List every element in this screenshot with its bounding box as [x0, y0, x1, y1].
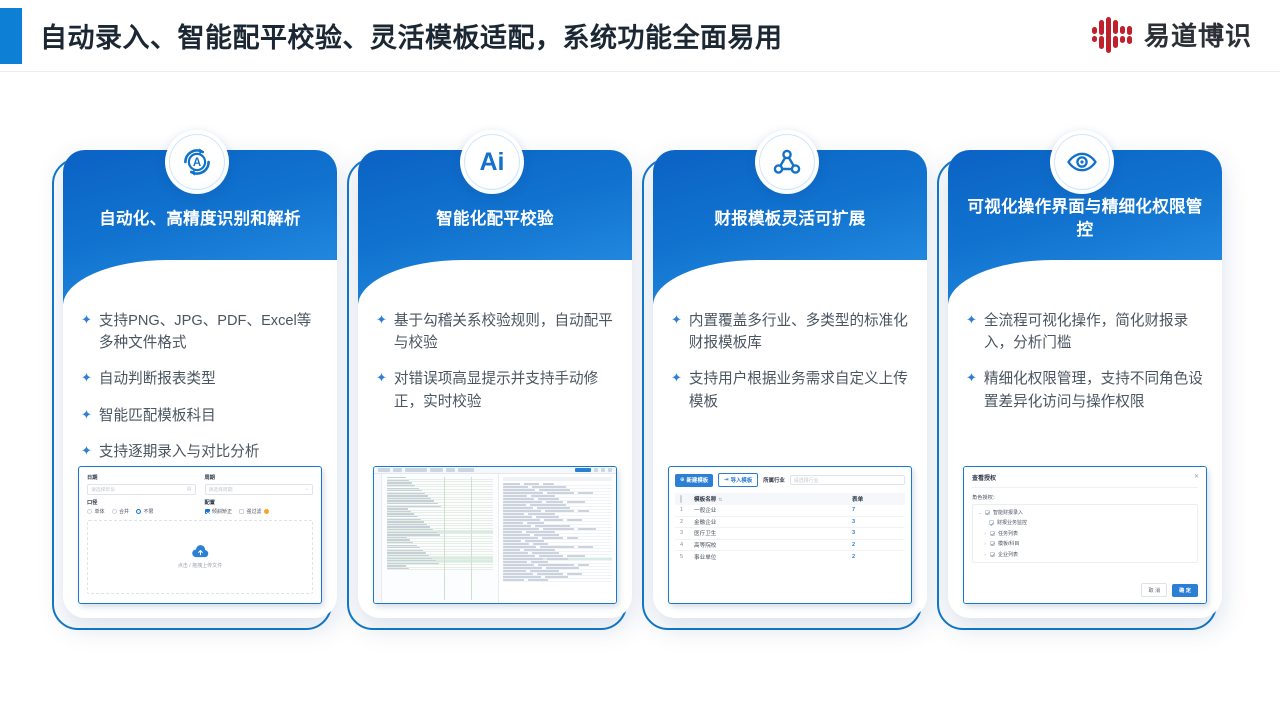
- table-header-row: 模板名称⇅ 表单: [675, 493, 905, 505]
- table-row[interactable]: 1 一般企业 7: [675, 505, 905, 517]
- industry-filter-label: 所属行业: [763, 476, 785, 484]
- card-body: 可视化操作界面与精细化权限管控 ✦ 全流程可视化操作，简化财报录入，分析门槛 ✦…: [948, 150, 1222, 618]
- header-divider: [0, 71, 1280, 72]
- ai-label: Ai: [480, 150, 505, 175]
- row-form-count[interactable]: 7: [852, 507, 900, 513]
- checkbox-option-checked[interactable]: 倾斜矫正: [205, 508, 233, 515]
- chevron-down-icon[interactable]: ⌄: [978, 510, 982, 516]
- chevron-right-icon[interactable]: ›: [983, 531, 987, 536]
- list-item: ✦ 支持用户根据业务需求自定义上传模板: [671, 368, 913, 412]
- caliber-group-label: 口径: [87, 499, 196, 506]
- role-permission-label: 角色授权：: [972, 494, 1198, 501]
- brand-logo-group: 易道博识: [1090, 14, 1252, 54]
- checkbox-checked-icon[interactable]: [990, 541, 995, 546]
- date-input[interactable]: 请选择年份 ▤: [87, 484, 196, 495]
- dialog-title: 查看授权: [972, 473, 1198, 482]
- card-body: 智能化配平校验 ✦ 基于勾稽关系校验规则，自动配平与校验 ✦ 对错误项高显提示并…: [358, 150, 632, 618]
- config-checkbox-group: 倾斜矫正 强过滤: [205, 508, 314, 515]
- bullet-text: 支持用户根据业务需求自定义上传模板: [689, 368, 913, 412]
- confirm-button[interactable]: 确 定: [1172, 584, 1198, 597]
- card-bullet-list: ✦ 全流程可视化操作，简化财报录入，分析门槛 ✦ 精细化权限管理，支持不同角色设…: [966, 310, 1208, 427]
- bullet-text: 支持PNG、JPG、PDF、Excel等多种文件格式: [99, 310, 323, 354]
- config-group-label: 配置: [205, 499, 314, 506]
- tree-node-label: 财报业务监控: [997, 519, 1027, 526]
- radio-dot-icon: [112, 509, 117, 514]
- table-row[interactable]: 5 事业单位 2: [675, 551, 905, 563]
- list-item: ✦ 支持PNG、JPG、PDF、Excel等多种文件格式: [81, 310, 323, 354]
- mock-table-pane: [498, 474, 616, 603]
- bullet-diamond-icon: ✦: [81, 310, 92, 330]
- import-template-label: 导入模板: [731, 476, 753, 484]
- chevron-right-icon[interactable]: ›: [983, 541, 987, 546]
- list-item: ✦ 支持逐期录入与对比分析: [81, 441, 323, 463]
- tree-node[interactable]: › 企业列表: [978, 551, 1192, 558]
- industry-filter-placeholder: 请选择行业: [794, 477, 819, 484]
- tree-node-label: 企业列表: [998, 551, 1018, 558]
- chevron-down-icon: ⌄: [305, 486, 309, 492]
- bullet-diamond-icon: ✦: [671, 368, 682, 388]
- upload-form-screenshot[interactable]: 日期 请选择年份 ▤ 周期 请选择周期 ⌄: [78, 466, 322, 604]
- tree-node[interactable]: › 任务列表: [978, 530, 1192, 537]
- tree-node[interactable]: ⌄ 智能财报录入: [978, 509, 1192, 516]
- new-template-label: 新建模板: [687, 476, 709, 484]
- calendar-icon: ▤: [187, 486, 192, 492]
- checkbox-label: 倾斜矫正: [212, 508, 232, 515]
- industry-filter-select[interactable]: 请选择行业: [790, 475, 905, 485]
- row-index: 4: [680, 542, 694, 548]
- radio-dot-icon: [87, 509, 92, 514]
- period-select[interactable]: 请选择周期 ⌄: [205, 484, 314, 495]
- eye-icon: [1050, 130, 1114, 194]
- bullet-diamond-icon: ✦: [966, 368, 977, 388]
- mock-toolbar: [374, 467, 616, 474]
- bullet-text: 智能匹配模板科目: [99, 405, 216, 427]
- slide-page: 自动录入、智能配平校验、灵活模板适配，系统功能全面易用 易道博识 自动化、高精度…: [0, 0, 1280, 720]
- file-dropzone[interactable]: 点击 / 拖拽上传文件: [87, 520, 313, 594]
- close-icon[interactable]: ✕: [1194, 473, 1199, 480]
- import-icon: ⇥: [724, 477, 729, 483]
- reconciliation-screenshot[interactable]: [373, 466, 617, 604]
- mock-thumbnail-rail: [374, 474, 382, 603]
- ai-text-icon: Ai: [460, 130, 524, 194]
- checkbox-icon: [239, 509, 244, 514]
- dialog-divider: [972, 487, 1198, 488]
- card-title: 财报模板灵活可扩展: [667, 208, 913, 231]
- checkbox-checked-icon[interactable]: [985, 510, 990, 515]
- tree-node-label: 模板/科目: [998, 540, 1019, 547]
- card-title: 智能化配平校验: [372, 208, 618, 231]
- import-template-button[interactable]: ⇥ 导入模板: [718, 473, 758, 487]
- radio-label: 单体: [95, 508, 105, 515]
- list-item: ✦ 内置覆盖多行业、多类型的标准化财报模板库: [671, 310, 913, 354]
- list-item: ✦ 自动判断报表类型: [81, 368, 323, 390]
- bullet-text: 支持逐期录入与对比分析: [99, 441, 260, 463]
- card-title: 自动化、高精度识别和解析: [77, 208, 323, 231]
- radio-label: 合并: [119, 508, 129, 515]
- row-form-count[interactable]: 2: [852, 542, 900, 548]
- column-header-name: 模板名称⇅: [694, 495, 852, 503]
- tree-node-label: 智能财报录入: [993, 509, 1023, 516]
- table-row[interactable]: 3 医疗卫生 3: [675, 528, 905, 540]
- list-item: ✦ 对错误项高显提示并支持手动修正，实时校验: [376, 368, 618, 412]
- bullet-text: 对错误项高显提示并支持手动修正，实时校验: [394, 368, 618, 412]
- checkbox-checked-icon: [205, 509, 210, 514]
- radio-option[interactable]: 合并: [112, 508, 130, 515]
- share-nodes-icon: [755, 130, 819, 194]
- new-template-button[interactable]: ⊕ 新建模板: [675, 474, 713, 487]
- row-index: 5: [680, 554, 694, 560]
- sort-icon[interactable]: ⇅: [718, 497, 722, 502]
- row-form-count[interactable]: 2: [852, 554, 900, 560]
- card-bullet-list: ✦ 基于勾稽关系校验规则，自动配平与校验 ✦ 对错误项高显提示并支持手动修正，实…: [376, 310, 618, 427]
- card-bullet-list: ✦ 支持PNG、JPG、PDF、Excel等多种文件格式 ✦ 自动判断报表类型 …: [81, 310, 323, 477]
- page-title: 自动录入、智能配平校验、灵活模板适配，系统功能全面易用: [40, 16, 783, 55]
- page-header: 自动录入、智能配平校验、灵活模板适配，系统功能全面易用 易道博识: [0, 0, 1280, 72]
- row-template-name: 医疗卫生: [694, 529, 852, 537]
- waveform-circle-logo-icon: [1090, 14, 1134, 54]
- radio-label: 不限: [144, 508, 154, 515]
- list-item: ✦ 智能匹配模板科目: [81, 405, 323, 427]
- bullet-text: 基于勾稽关系校验规则，自动配平与校验: [394, 310, 618, 354]
- permission-dialog-screenshot[interactable]: 查看授权 ✕ 角色授权： ⌄ 智能财报录入 财: [963, 466, 1207, 604]
- row-template-name: 一般企业: [694, 506, 852, 514]
- checkbox-label: 强过滤: [247, 508, 262, 515]
- radio-dot-selected-icon: [136, 509, 141, 514]
- cloud-upload-icon: [192, 545, 209, 558]
- row-template-name: 金融企业: [694, 518, 852, 526]
- template-toolbar: ⊕ 新建模板 ⇥ 导入模板 所属行业 请选择行业: [675, 473, 905, 487]
- radio-option-selected[interactable]: 不限: [136, 508, 154, 515]
- auto-refresh-a-icon: A: [165, 130, 229, 194]
- card-bullet-list: ✦ 内置覆盖多行业、多类型的标准化财报模板库 ✦ 支持用户根据业务需求自定义上传…: [671, 310, 913, 427]
- bullet-diamond-icon: ✦: [81, 405, 92, 425]
- card-body: 自动化、高精度识别和解析 ✦ 支持PNG、JPG、PDF、Excel等多种文件格…: [63, 150, 337, 618]
- tree-node-label: 任务列表: [998, 530, 1018, 537]
- card-body: 财报模板灵活可扩展 ✦ 内置覆盖多行业、多类型的标准化财报模板库 ✦ 支持用户根…: [653, 150, 927, 618]
- caliber-radio-group: 单体 合并 不限: [87, 508, 196, 515]
- bullet-diamond-icon: ✦: [966, 310, 977, 330]
- card-title: 可视化操作界面与精细化权限管控: [962, 196, 1208, 243]
- list-item: ✦ 全流程可视化操作，简化财报录入，分析门槛: [966, 310, 1208, 354]
- table-row[interactable]: 2 金融企业 3: [675, 517, 905, 529]
- svg-text:A: A: [193, 157, 201, 169]
- brand-name: 易道博识: [1144, 16, 1252, 53]
- date-input-placeholder: 请选择年份: [91, 486, 115, 493]
- header-accent-bar: [0, 8, 22, 64]
- row-template-name: 高等院校: [694, 541, 852, 549]
- mock-split-body: [374, 474, 616, 603]
- plus-circle-icon: ⊕: [680, 477, 685, 483]
- list-item: ✦ 基于勾稽关系校验规则，自动配平与校验: [376, 310, 618, 354]
- bullet-diamond-icon: ✦: [376, 310, 387, 330]
- bullet-text: 自动判断报表类型: [99, 368, 216, 390]
- bullet-text: 内置覆盖多行业、多类型的标准化财报模板库: [689, 310, 913, 354]
- row-form-count[interactable]: 3: [852, 519, 900, 525]
- checkbox-option[interactable]: 强过滤: [239, 508, 269, 515]
- dialog-footer: 取 消 确 定: [972, 583, 1198, 597]
- bullet-text: 全流程可视化操作，简化财报录入，分析门槛: [984, 310, 1208, 354]
- row-index: 3: [680, 530, 694, 536]
- tree-node[interactable]: 财报业务监控: [978, 519, 1192, 526]
- permission-tree: ⌄ 智能财报录入 财报业务监控 › 任务列表: [972, 504, 1198, 563]
- checkbox-checked-icon[interactable]: [990, 531, 995, 536]
- select-all-checkbox[interactable]: [680, 495, 682, 503]
- dropzone-text: 点击 / 拖拽上传文件: [178, 562, 222, 569]
- bullet-diamond-icon: ✦: [376, 368, 387, 388]
- bullet-diamond-icon: ✦: [81, 441, 92, 461]
- feature-card-grid: 自动化、高精度识别和解析 ✦ 支持PNG、JPG、PDF、Excel等多种文件格…: [0, 130, 1280, 630]
- chevron-right-icon[interactable]: ›: [983, 552, 987, 557]
- warning-icon: [264, 509, 269, 514]
- checkbox-checked-icon[interactable]: [989, 520, 994, 525]
- bullet-diamond-icon: ✦: [81, 368, 92, 388]
- row-index: 2: [680, 519, 694, 525]
- row-template-name: 事业单位: [694, 553, 852, 561]
- list-item: ✦ 精细化权限管理，支持不同角色设置差异化访问与操作权限: [966, 368, 1208, 412]
- tree-node[interactable]: › 模板/科目: [978, 540, 1192, 547]
- cancel-button[interactable]: 取 消: [1141, 583, 1167, 597]
- period-select-placeholder: 请选择周期: [209, 486, 233, 493]
- row-form-count[interactable]: 3: [852, 530, 900, 536]
- bullet-text: 精细化权限管理，支持不同角色设置差异化访问与操作权限: [984, 368, 1208, 412]
- column-header-forms: 表单: [852, 495, 900, 503]
- bullet-diamond-icon: ✦: [671, 310, 682, 330]
- row-index: 1: [680, 507, 694, 513]
- checkbox-checked-icon[interactable]: [990, 552, 995, 557]
- table-row[interactable]: 4 高等院校 2: [675, 540, 905, 552]
- period-field-label: 周期: [205, 474, 314, 481]
- mock-document-pane: [382, 474, 498, 603]
- template-table-screenshot[interactable]: ⊕ 新建模板 ⇥ 导入模板 所属行业 请选择行业: [668, 466, 912, 604]
- radio-option[interactable]: 单体: [87, 508, 105, 515]
- date-field-label: 日期: [87, 474, 196, 481]
